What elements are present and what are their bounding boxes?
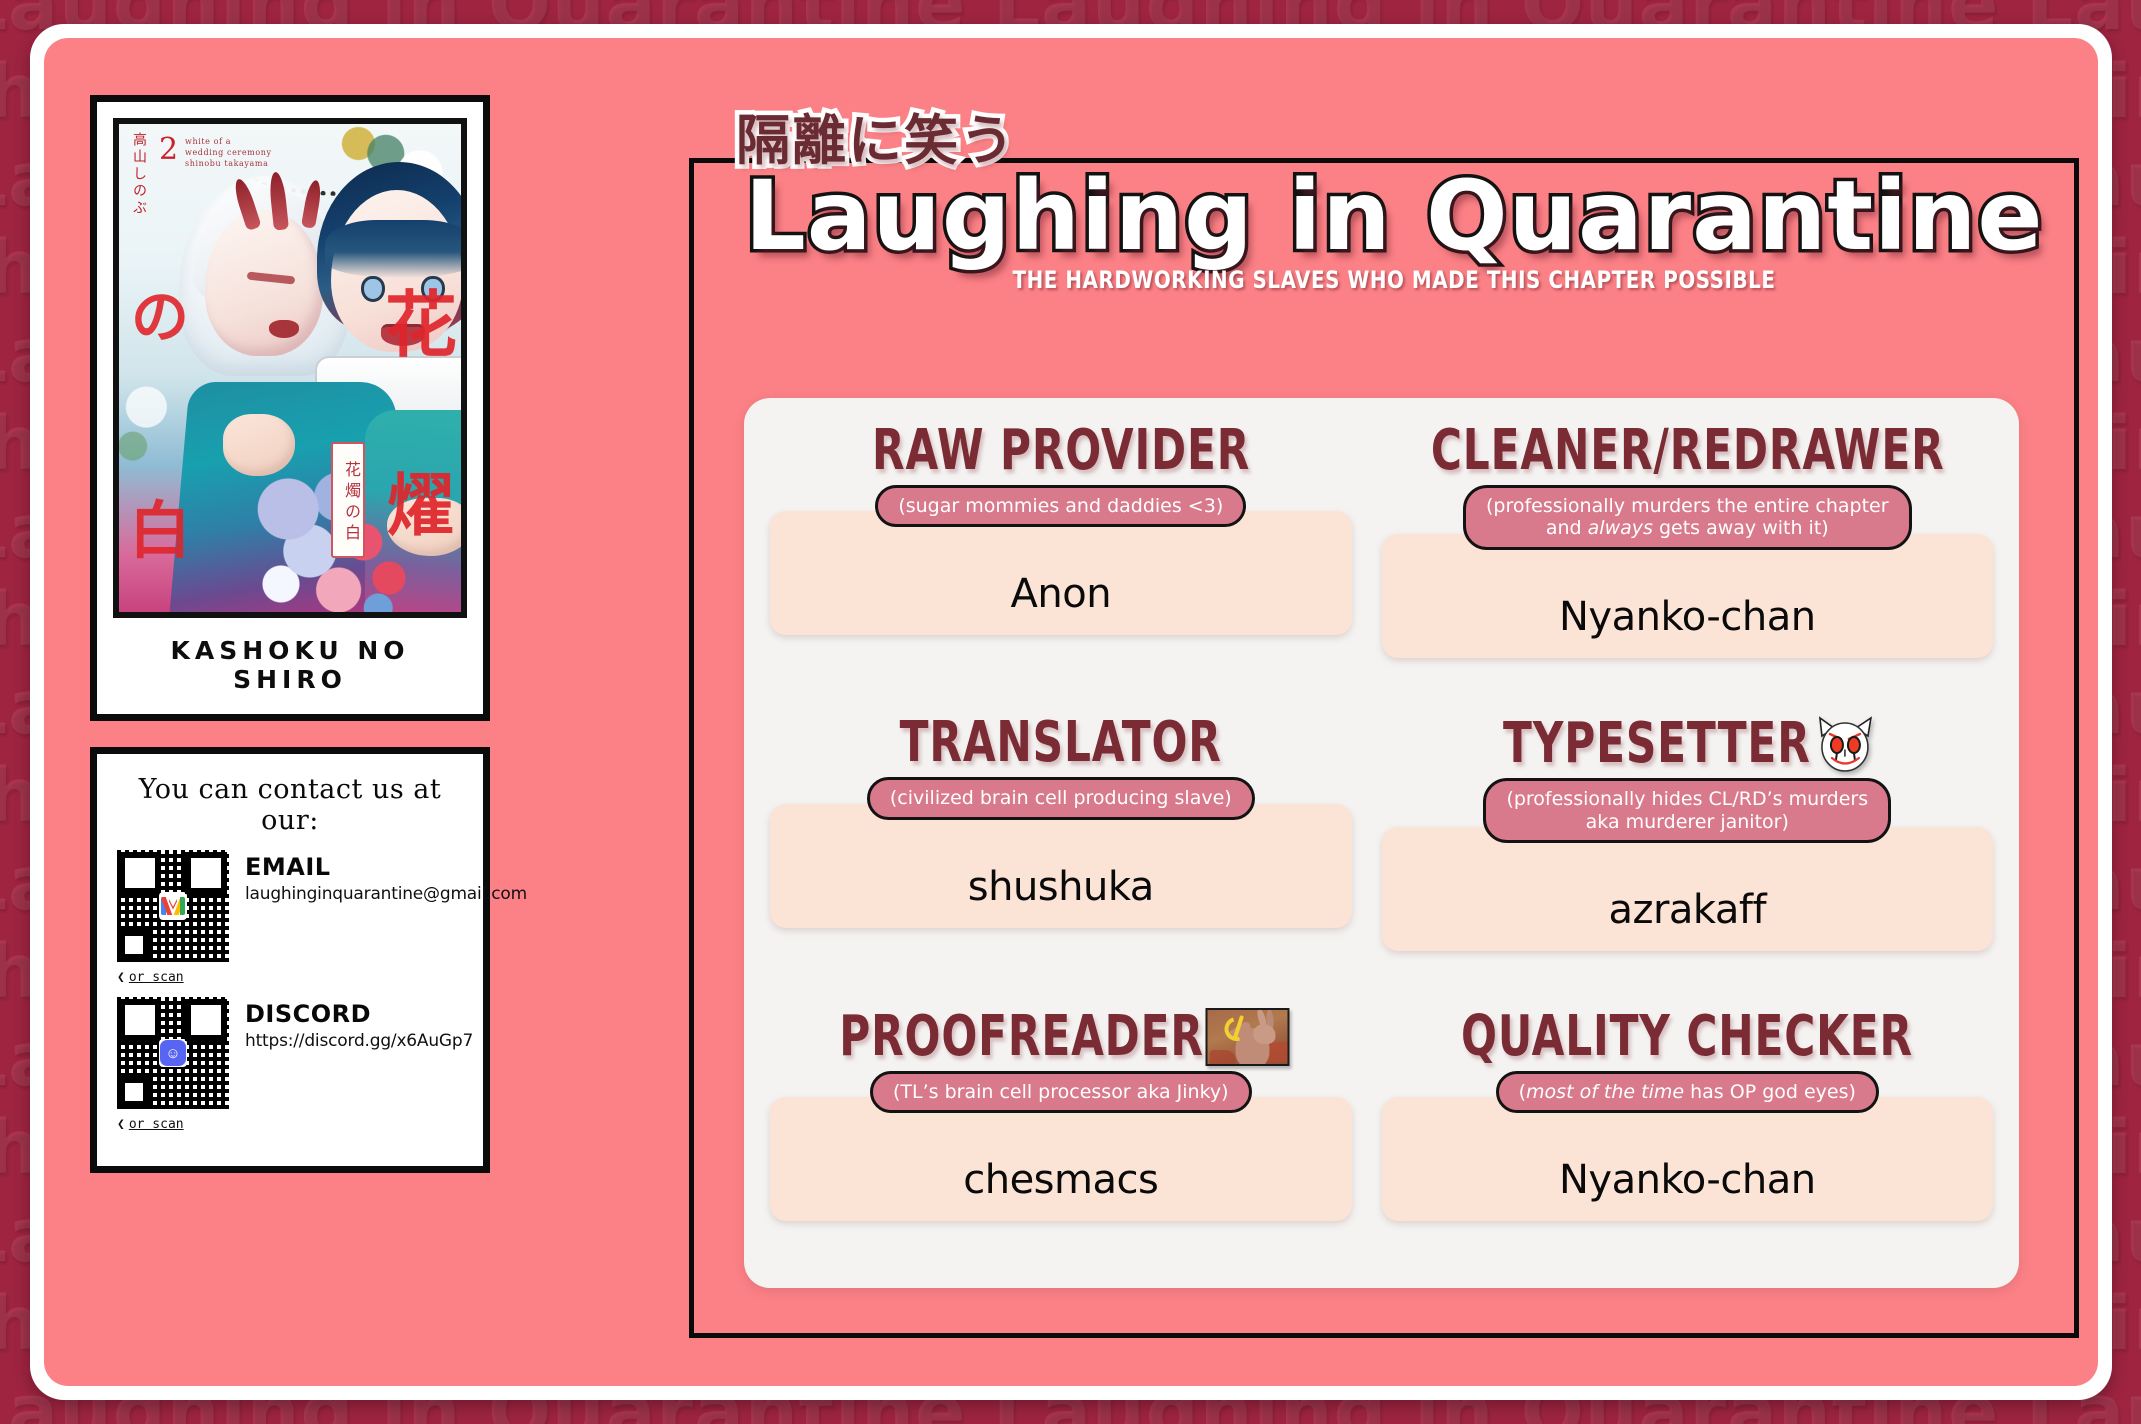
credit-role-title: PROOFREADER xyxy=(839,1008,1283,1067)
cover-kanji-no: の xyxy=(131,270,189,354)
manga-cover-image: 花燭の白 花 燿 白 の 高山しのぶ 2 white of a wedding … xyxy=(113,118,467,618)
cover-white-head xyxy=(205,210,323,356)
page-title: Laughing in Quarantine xyxy=(734,160,2054,272)
credit-role-label: QUALITY CHECKER xyxy=(1461,1008,1913,1067)
or-scan-hint-discord: ❮ or scan xyxy=(117,1117,229,1132)
credit-name: azrakaff xyxy=(1608,887,1766,933)
communist-bunny-icon xyxy=(1205,1008,1289,1066)
credit-role-title: CLEANER/REDRAWER xyxy=(1430,422,1944,481)
credit-cell: TRANSLATOR(civilized brain cell producin… xyxy=(770,714,1352,994)
credit-cell: RAW PROVIDER(sugar mommies and daddies <… xyxy=(770,422,1352,700)
credit-caption: (civilized brain cell producing slave) xyxy=(867,777,1255,819)
credit-caption: (TL’s brain cell processor aka Jinky) xyxy=(870,1071,1252,1113)
chevron-left-icon: ❮ xyxy=(117,970,125,985)
cover-hand xyxy=(223,414,295,476)
credit-role-title: QUALITY CHECKER xyxy=(1461,1008,1913,1067)
cat-face-icon xyxy=(1814,714,1876,774)
cover-eye xyxy=(361,276,385,302)
contact-text-email: EMAIL laughinginquarantine@gmail.com xyxy=(245,850,527,904)
cover-vertical-tag: 花燭の白 xyxy=(331,442,365,558)
cover-caption: KASHOKU NO SHIRO xyxy=(113,618,467,704)
outer-card: 花燭の白 花 燿 白 の 高山しのぶ 2 white of a wedding … xyxy=(30,24,2112,1400)
credit-role-label: RAW PROVIDER xyxy=(872,422,1250,481)
credit-role-label: PROOFREADER xyxy=(839,1008,1204,1067)
credit-cell: CLEANER/REDRAWER(professionally murders … xyxy=(1382,422,1993,700)
credit-caption: (most of the time has OP god eyes) xyxy=(1496,1071,1879,1113)
contact-text-discord: DISCORD https://discord.gg/x6AuGp7 xyxy=(245,997,473,1051)
credit-role-title: TRANSLATOR xyxy=(900,714,1222,773)
contact-row-discord: ☺ ❮ or scan DISCORD https://discord.gg/x… xyxy=(117,997,463,1132)
cover-volume-number: 2 xyxy=(159,132,178,167)
contact-row-email: ❮ or scan EMAIL laughinginquarantine@gma… xyxy=(117,850,463,985)
credit-role-label: TYPESETTER xyxy=(1503,715,1811,774)
cover-card: 花燭の白 花 燿 白 の 高山しのぶ 2 white of a wedding … xyxy=(90,95,490,721)
qr-code-discord[interactable]: ☺ xyxy=(117,997,229,1109)
credit-caption: (sugar mommies and daddies <3) xyxy=(875,485,1246,527)
credit-role-title: TYPESETTER xyxy=(1503,714,1871,774)
credit-role-label: TRANSLATOR xyxy=(900,714,1222,773)
credit-name: chesmacs xyxy=(963,1157,1158,1203)
cover-kanji-shiro: 白 xyxy=(129,480,191,570)
credit-name-box: Anon xyxy=(770,511,1352,635)
credit-name-box: Nyanko-chan xyxy=(1382,534,1993,658)
credit-caption: (professionally murders the entire chapt… xyxy=(1463,485,1912,550)
credit-name: Nyanko-chan xyxy=(1559,1157,1816,1203)
contact-label-discord: DISCORD xyxy=(245,1001,473,1027)
credit-name: Anon xyxy=(1011,571,1112,617)
credit-role-label: CLEANER/REDRAWER xyxy=(1430,422,1944,481)
page-subtitle: THE HARDWORKING SLAVES WHO MADE THIS CHA… xyxy=(787,266,2001,294)
credit-name: shushuka xyxy=(968,864,1154,910)
cover-author: 高山しのぶ xyxy=(129,132,149,252)
cover-mouth xyxy=(269,320,299,338)
credit-cell: PROOFREADER(TL’s brain cell processor ak… xyxy=(770,1008,1352,1264)
credit-name-box: chesmacs xyxy=(770,1097,1352,1221)
cover-romaji: white of a wedding ceremony shinobu taka… xyxy=(185,136,272,169)
credits-grid: RAW PROVIDER(sugar mommies and daddies <… xyxy=(744,398,2019,1288)
cover-kanji-hana: 花 xyxy=(385,266,457,371)
cover-kanji-kagayaku: 燿 xyxy=(387,450,455,549)
credit-name-box: shushuka xyxy=(770,804,1352,928)
credit-name-box: azrakaff xyxy=(1382,827,1993,951)
chevron-left-icon: ❮ xyxy=(117,1117,125,1132)
qr-code-email[interactable] xyxy=(117,850,229,962)
contact-value-email[interactable]: laughinginquarantine@gmail.com xyxy=(245,884,527,904)
contact-card: You can contact us at our: xyxy=(90,747,490,1173)
credit-name: Nyanko-chan xyxy=(1559,594,1816,640)
or-scan-hint-email: ❮ or scan xyxy=(117,970,229,985)
credit-caption: (professionally hides CL/RD’s murdersaka… xyxy=(1483,778,1891,843)
left-column: 花燭の白 花 燿 白 の 高山しのぶ 2 white of a wedding … xyxy=(90,95,490,1173)
credit-cell: TYPESETTER(professionally hides CL/RD’s … xyxy=(1382,714,1993,994)
credits-panel: RAW PROVIDER(sugar mommies and daddies <… xyxy=(744,398,2019,1288)
credit-cell: QUALITY CHECKER(most of the time has OP … xyxy=(1382,1008,1993,1264)
credit-role-title: RAW PROVIDER xyxy=(872,422,1250,481)
gmail-logo-icon xyxy=(159,892,187,920)
qr-wrap-discord: ☺ ❮ or scan xyxy=(117,997,229,1132)
credits-page: Laughing in Quarantine Laughing in Quara… xyxy=(0,0,2141,1424)
discord-logo-icon: ☺ xyxy=(159,1039,187,1067)
contact-heading: You can contact us at our: xyxy=(117,774,463,836)
salmon-panel: 花燭の白 花 燿 白 の 高山しのぶ 2 white of a wedding … xyxy=(44,38,2098,1386)
contact-label-email: EMAIL xyxy=(245,854,527,880)
credit-name-box: Nyanko-chan xyxy=(1382,1097,1993,1221)
qr-wrap-email: ❮ or scan xyxy=(117,850,229,985)
contact-value-discord[interactable]: https://discord.gg/x6AuGp7 xyxy=(245,1031,473,1051)
